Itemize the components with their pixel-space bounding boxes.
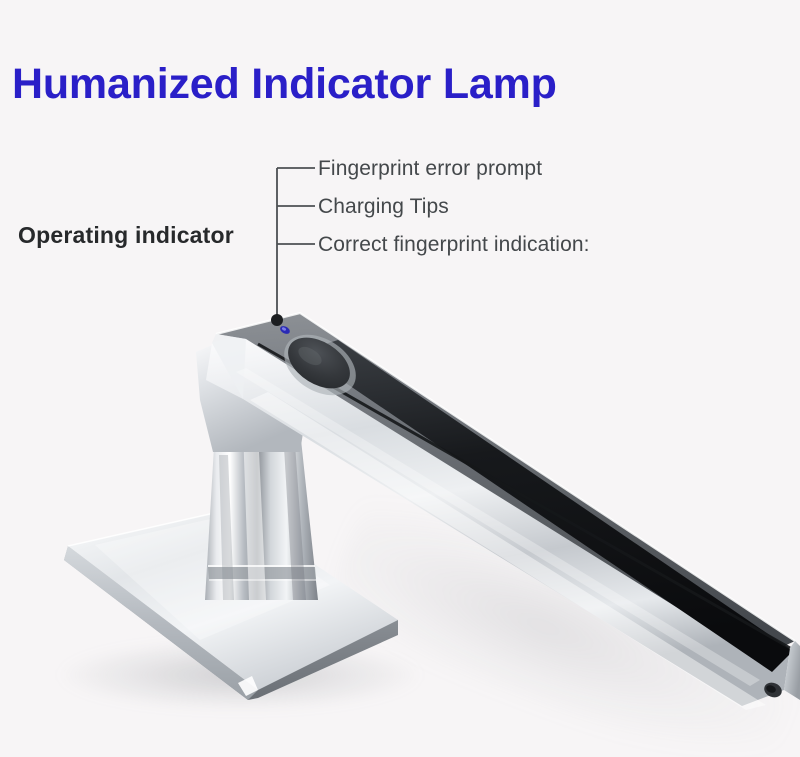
callout-label-fingerprint-error: Fingerprint error prompt <box>318 157 542 181</box>
product-illustration <box>0 0 800 757</box>
handle-vector <box>0 0 800 757</box>
operating-indicator-label: Operating indicator <box>18 222 234 249</box>
callout-label-charging-tips: Charging Tips <box>318 195 449 219</box>
callout-label-correct-fingerprint: Correct fingerprint indication: <box>318 233 590 257</box>
product-marketing-image: Humanized Indicator Lamp <box>0 0 800 757</box>
